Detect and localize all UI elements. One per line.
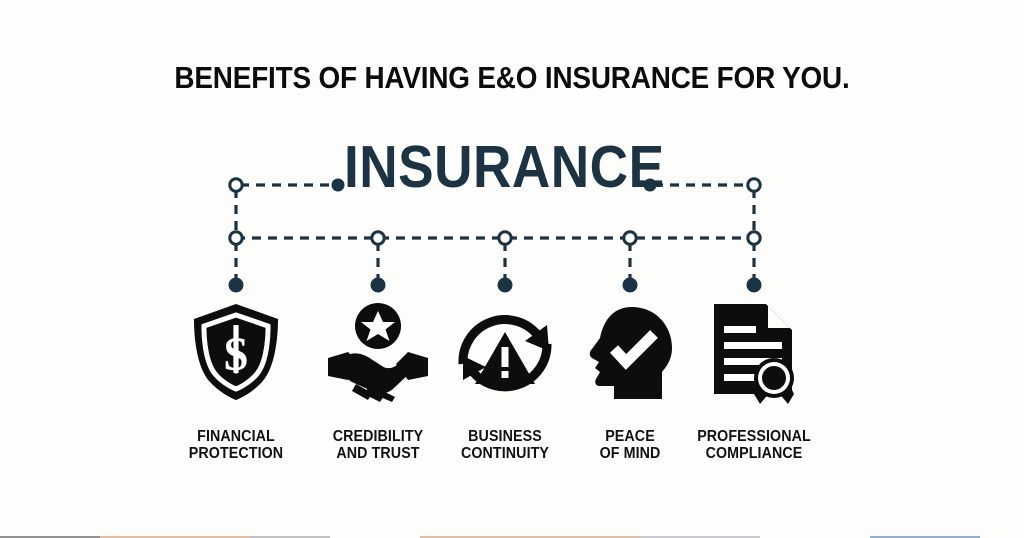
icon-container <box>679 300 829 404</box>
node-hollow-bus-3 <box>499 232 511 244</box>
node-hollow-top-left <box>230 179 242 191</box>
benefit-column-financial-protection: $ FINANCIAL PROTECTION <box>161 300 311 462</box>
node-dot-terminal-4 <box>623 278 638 293</box>
head-check-icon <box>584 302 676 402</box>
benefit-label: CREDIBILITY AND TRUST <box>309 428 447 462</box>
certificate-seal-icon <box>710 300 798 404</box>
benefit-label: FINANCIAL PROTECTION <box>167 428 305 462</box>
node-dot-terminal-1 <box>229 278 244 293</box>
node-hollow-bus-5 <box>748 232 760 244</box>
page-title: BENEFITS OF HAVING E&O INSURANCE FOR YOU… <box>51 60 973 96</box>
node-dot-terminal-5 <box>747 278 762 293</box>
benefit-label: BUSINESS CONTINUITY <box>436 428 574 462</box>
benefit-column-professional-compliance: PROFESSIONAL COMPLIANCE <box>679 300 829 462</box>
node-dot-word-left <box>332 179 345 192</box>
hub-label: INSURANCE <box>344 137 665 196</box>
node-hollow-bus-2 <box>372 232 384 244</box>
node-hollow-bus-1 <box>230 232 242 244</box>
node-dot-terminal-3 <box>498 278 513 293</box>
benefit-label: PROFESSIONAL COMPLIANCE <box>685 428 823 462</box>
shield-dollar-icon: $ <box>190 302 282 402</box>
icon-container: $ <box>161 300 311 404</box>
cycle-warning-icon <box>456 302 554 402</box>
handshake-star-icon <box>326 302 430 402</box>
node-dot-terminal-2 <box>371 278 386 293</box>
infographic-canvas: BENEFITS OF HAVING E&O INSURANCE FOR YOU… <box>0 0 1024 538</box>
node-hollow-bus-4 <box>624 232 636 244</box>
node-hollow-top-right <box>748 179 760 191</box>
